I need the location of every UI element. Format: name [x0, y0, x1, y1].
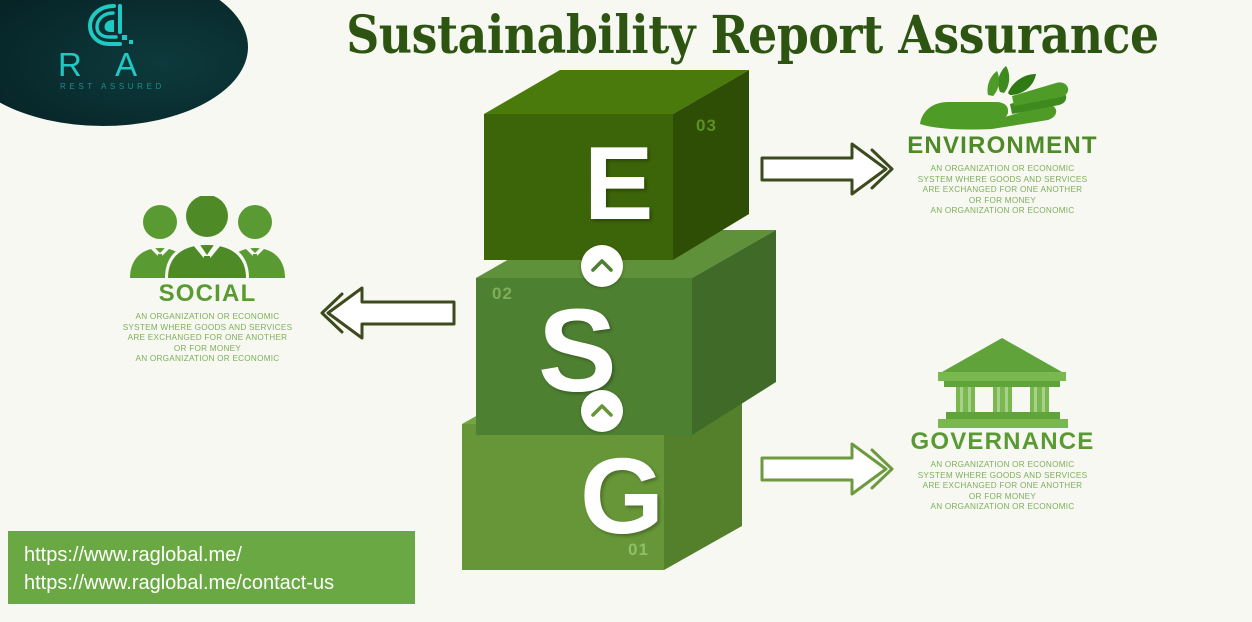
cube-environment-number: 03 [696, 116, 717, 136]
panel-governance-body-line: ARE EXCHANGED FOR ONE ANOTHER [900, 481, 1105, 492]
panel-governance-body-line: AN ORGANIZATION OR ECONOMIC [900, 460, 1105, 471]
arrow-left-social [306, 282, 456, 344]
chevron-up-badge-bottom[interactable] [581, 390, 623, 432]
panel-social-body-line: SYSTEM WHERE GOODS AND SERVICES [105, 323, 310, 334]
logo-content: R A REST ASSURED [58, 2, 218, 112]
panel-environment-body-line: ARE EXCHANGED FOR ONE ANOTHER [900, 185, 1105, 196]
page-title: Sustainability Report Assurance [346, 5, 1024, 67]
panel-social: SOCIAL AN ORGANIZATION OR ECONOMIC SYSTE… [105, 196, 310, 365]
panel-governance-title: GOVERNANCE [900, 428, 1105, 456]
cube-social-number: 02 [492, 284, 513, 304]
panel-environment-body-line: OR FOR MONEY [900, 196, 1105, 207]
poster-canvas: R A REST ASSURED Sustainability Report A… [0, 0, 1252, 622]
hand-holding-leaves-icon [900, 62, 1105, 130]
panel-environment: ENVIRONMENT AN ORGANIZATION OR ECONOMIC … [900, 62, 1105, 217]
logo-tagline: REST ASSURED [60, 82, 210, 91]
chevron-up-icon [590, 402, 614, 420]
arrow-right-environment [760, 138, 900, 200]
cube-governance-number: 01 [628, 540, 649, 560]
panel-governance-body: AN ORGANIZATION OR ECONOMIC SYSTEM WHERE… [900, 460, 1105, 513]
website-url-link-contact[interactable]: https://www.raglobal.me/contact-us [24, 569, 399, 597]
panel-governance-body-line: AN ORGANIZATION OR ECONOMIC [900, 502, 1105, 513]
spiral-at-icon [80, 2, 144, 50]
panel-environment-body-line: AN ORGANIZATION OR ECONOMIC [900, 164, 1105, 175]
logo-badge[interactable]: R A REST ASSURED [0, 0, 248, 126]
esg-cube-stack: G 01 S 02 E 03 [440, 60, 780, 560]
panel-environment-title: ENVIRONMENT [900, 132, 1105, 160]
panel-social-title: SOCIAL [105, 280, 310, 308]
panel-social-body: AN ORGANIZATION OR ECONOMIC SYSTEM WHERE… [105, 312, 310, 365]
cube-social[interactable]: S 02 [476, 230, 776, 435]
panel-governance: GOVERNANCE AN ORGANIZATION OR ECONOMIC S… [900, 334, 1105, 513]
cube-environment[interactable]: E 03 [484, 70, 749, 260]
cube-governance-letter: G [580, 442, 664, 550]
panel-governance-body-line: SYSTEM WHERE GOODS AND SERVICES [900, 471, 1105, 482]
chevron-up-icon [590, 257, 614, 275]
panel-environment-body-line: SYSTEM WHERE GOODS AND SERVICES [900, 175, 1105, 186]
cube-environment-letter: E [584, 132, 653, 236]
panel-governance-body-line: OR FOR MONEY [900, 492, 1105, 503]
panel-social-body-line: ARE EXCHANGED FOR ONE ANOTHER [105, 333, 310, 344]
three-people-icon [105, 196, 310, 278]
panel-social-body-line: OR FOR MONEY [105, 344, 310, 355]
website-url-banner: https://www.raglobal.me/ https://www.rag… [8, 531, 415, 604]
panel-social-body-line: AN ORGANIZATION OR ECONOMIC [105, 312, 310, 323]
classical-bank-building-icon [900, 334, 1105, 430]
panel-environment-body-line: AN ORGANIZATION OR ECONOMIC [900, 206, 1105, 217]
website-url-link-home[interactable]: https://www.raglobal.me/ [24, 541, 399, 569]
logo-initials: R A [58, 46, 208, 84]
arrow-right-governance [760, 438, 900, 500]
panel-social-body-line: AN ORGANIZATION OR ECONOMIC [105, 354, 310, 365]
panel-environment-body: AN ORGANIZATION OR ECONOMIC SYSTEM WHERE… [900, 164, 1105, 217]
chevron-up-badge-top[interactable] [581, 245, 623, 287]
